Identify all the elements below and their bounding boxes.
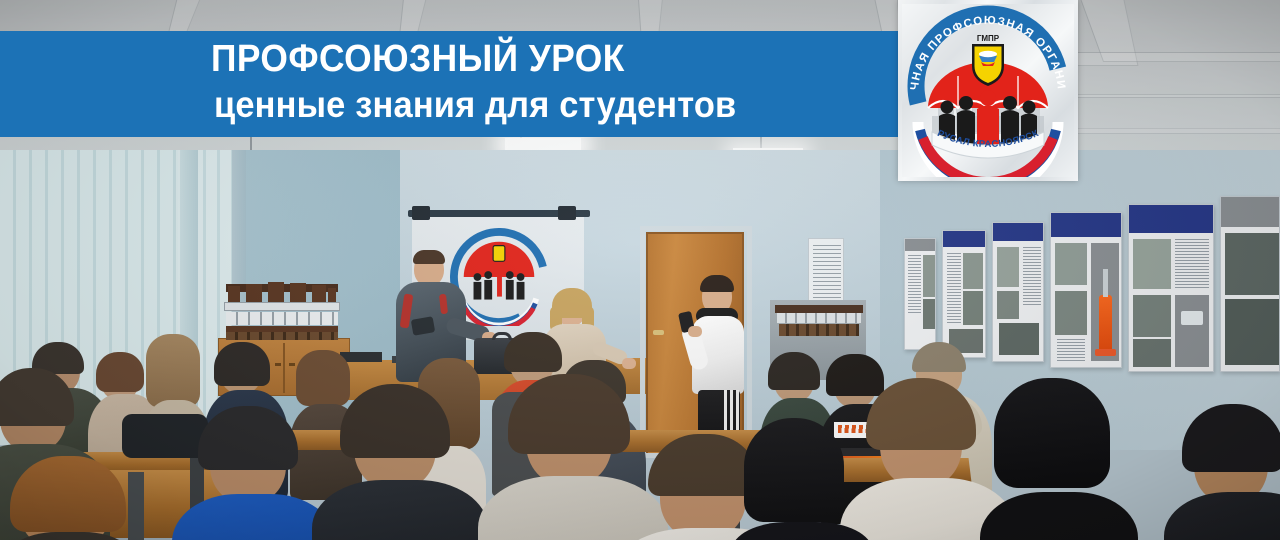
page-subtitle: ценные знания для студентов	[214, 84, 736, 126]
page-title: ПРОФСОЮЗНЫЙ УРОК	[211, 38, 625, 81]
promo-banner: ПРОФСОЮЗНЫЙ УРОК ценные знания для студе…	[0, 0, 1280, 540]
union-logo-panel: ПЕРВИЧНАЯ ПРОФСОЮЗНАЯ ОРГАНИЗАЦИЯ ГМПР	[898, 0, 1078, 181]
logo-shield-text: ГМПР	[977, 34, 1000, 43]
union-logo: ПЕРВИЧНАЯ ПРОФСОЮЗНАЯ ОРГАНИЗАЦИЯ ГМПР	[902, 4, 1074, 177]
